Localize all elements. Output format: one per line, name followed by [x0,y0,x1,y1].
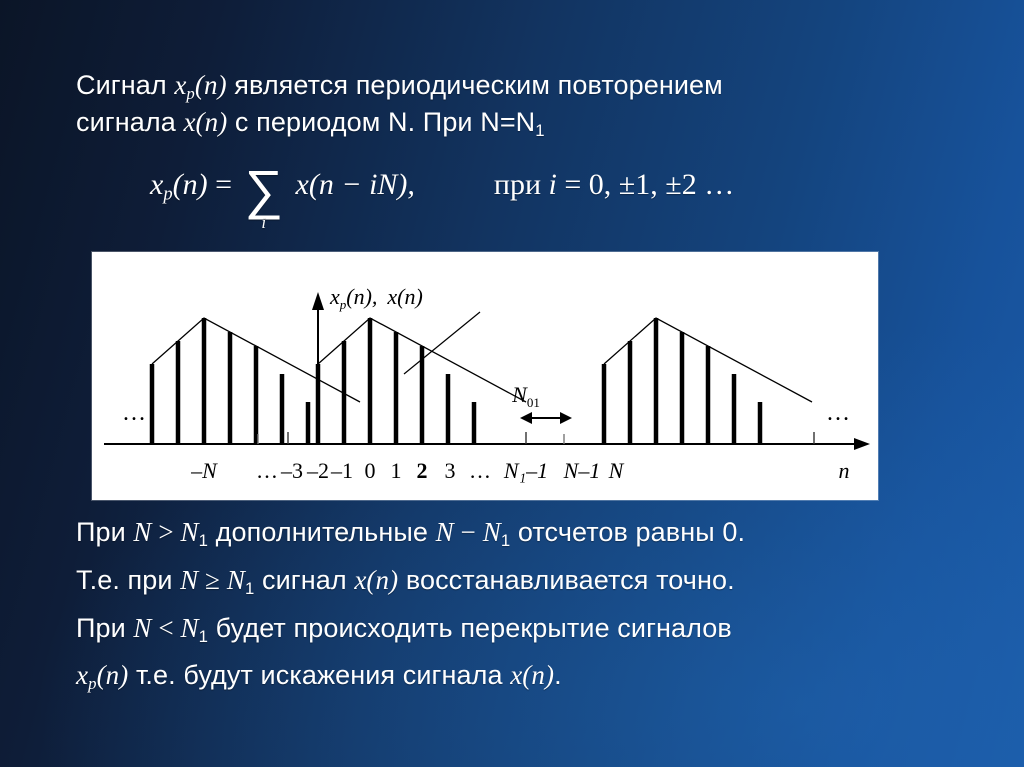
b1-N1-sub: 1 [199,531,208,550]
sigma-index: i [261,218,266,229]
intro-line-2: сигнала x(n) с периодом N. При N=N1 [76,105,976,142]
formula-condition-i: i [549,168,557,201]
b1-mid: дополнительные [208,517,436,547]
tick-label-N-minus-1: N–1 [563,458,601,483]
n01-label: N01 [511,382,540,410]
tick-label-minus-N: –N [190,458,218,483]
summation-formula: xp(n) = ∑i x(n − iN), при i = 0, ±1, ±2 … [150,168,734,206]
bottom-text-block: При N > N1 дополнительные N − N1 отсчето… [76,515,1006,706]
intro-line1-x-arg: (n) [195,70,227,100]
b1-gt: > [152,517,181,547]
x-axis-arrowhead [854,438,870,450]
tick-label-0: 0 [365,458,376,483]
n01-arrow-left-head [520,412,532,424]
b1-N: N [133,517,151,547]
ellipsis-left: … [122,400,146,426]
formula-lhs-arg: (n) [173,168,208,201]
b3-prefix: При [76,613,133,643]
b2-N: N [180,565,198,595]
intro-line1-x-subscript: p [186,84,194,103]
n01-arrow-right-head [560,412,572,424]
periodic-signal-chart: N01 xp(n),x(n) n … … –N … –3 –2 –1 0 [92,252,878,500]
b3-suffix: будет происходить перекрытие сигналов [208,613,732,643]
formula-lhs-subscript: p [163,184,172,205]
bottom-line-4: xp(n) т.е. будут искажения сигнала x(n). [76,658,1006,695]
tick-label-minus-3: –3 [280,458,303,483]
b3-lt: < [152,613,181,643]
b2-N1: N [227,565,245,595]
b2-ge: ≥ [198,565,227,595]
tick-label-ellipsis-left: … [256,458,278,483]
y-axis-title-xp: x [329,284,340,309]
tick-label-N1-minus-1: N₁–1 [503,458,548,483]
tick-label-minus-2: –2 [306,458,329,483]
intro-line2-n-subscript: 1 [535,121,544,140]
bottom-line-1: При N > N1 дополнительные N − N1 отсчето… [76,515,1006,552]
x-tick-label-row: –N … –3 –2 –1 0 1 2 3 … N₁–1 N–1 N [190,458,625,483]
n01-label-subscript: 01 [527,395,540,410]
tick-label-ellipsis-right: … [469,458,491,483]
b1-minus: − [454,517,483,547]
intro-line1-x: x [174,70,186,100]
formula-rhs: x(n − iN), [296,168,415,201]
b4-x: x(n) [510,660,554,690]
signal-figure-panel: N01 xp(n),x(n) n … … –N … –3 –2 –1 0 [92,252,878,500]
b2-suffix: восстанавливается точно. [398,565,734,595]
formula-equals: = [215,168,232,201]
sample-group-right [604,318,812,444]
sample-group-left [152,318,360,444]
formula-condition-values: = 0, ±1, ±2 … [557,168,734,201]
b3-N: N [133,613,151,643]
b2-N1-sub: 1 [245,579,254,598]
n01-label-main: N [511,382,528,407]
ellipsis-right: … [826,400,850,426]
b1-prefix: При [76,517,133,547]
tick-label-3: 3 [445,458,456,483]
b1-suffix: отсчетов равны 0. [510,517,745,547]
intro-line-1: Сигнал xp(n) является периодическим повт… [76,68,976,105]
sigma-glyph: ∑ [245,158,284,221]
b4-xp-arg: (n) [97,660,129,690]
intro-line2-suffix: с периодом N. При N=N [227,107,535,137]
b1-N1: N [181,517,199,547]
y-axis-title-x: x(n) [386,284,422,309]
b4-suffix: . [554,660,562,690]
tick-label-N: N [608,458,625,483]
b3-N1-sub: 1 [199,627,208,646]
intro-text-block: Сигнал xp(n) является периодическим повт… [76,68,976,142]
b1-N3-sub: 1 [501,531,510,550]
tick-label-minus-1: –1 [330,458,353,483]
formula-condition-word: при [494,168,549,201]
b4-xp: x [76,660,88,690]
b4-xp-sub: p [88,674,96,693]
n01-gap-annotation: N01 [511,382,572,424]
intro-line2-prefix: сигнала [76,107,183,137]
summation-sigma-symbol: ∑i [245,173,284,206]
b2-x: x(n) [354,565,398,595]
bottom-line-2: Т.е. при N ≥ N1 сигнал x(n) восстанавлив… [76,563,1006,600]
sample-group-center [318,318,526,444]
b1-N2: N [436,517,454,547]
tick-label-2: 2 [417,458,428,483]
b4-mid: т.е. будут искажения сигнала [128,660,510,690]
b1-N3: N [483,517,501,547]
y-axis-title: xp(n),x(n) [329,284,423,312]
intro-line2-x: x(n) [183,107,227,137]
tick-label-1: 1 [391,458,402,483]
b3-N1: N [181,613,199,643]
y-axis-arrowhead [312,292,324,310]
intro-line1-suffix: является периодическим повторением [227,70,723,100]
bottom-line-3: При N < N1 будет происходить перекрытие … [76,611,1006,648]
formula-lhs-x: x [150,168,163,201]
b2-mid: сигнал [254,565,354,595]
slide-canvas: Сигнал xp(n) является периодическим повт… [0,0,1024,767]
y-axis-title-xp-arg: (n), [346,284,377,309]
x-axis-title: n [839,458,850,483]
b2-prefix: Т.е. при [76,565,180,595]
intro-line1-prefix: Сигнал [76,70,174,100]
